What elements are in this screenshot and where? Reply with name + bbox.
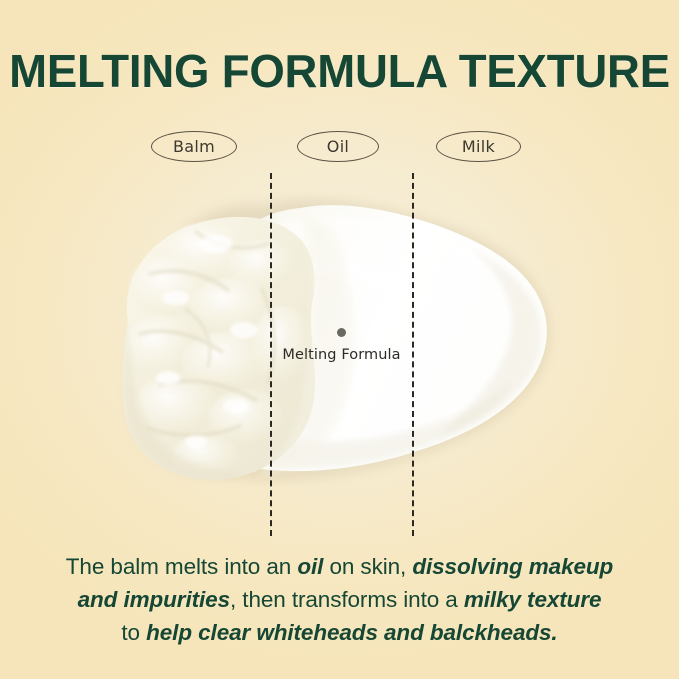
caption-l2-b1: and impurities — [78, 587, 230, 612]
texture-artwork — [0, 170, 679, 520]
caption-l1-b2: dissolving makeup — [412, 554, 613, 579]
stage-label-oil-text: Oil — [327, 137, 349, 156]
divider-oil-milk — [412, 173, 414, 536]
stage-label-milk: Milk — [436, 131, 521, 162]
caption-line-2: and impurities, then transforms into a m… — [40, 583, 639, 616]
caption-line-1: The balm melts into an oil on skin, diss… — [40, 550, 639, 583]
stage-label-milk-text: Milk — [462, 137, 495, 156]
caption-l3-b1: help clear whiteheads and balckheads. — [146, 620, 557, 645]
caption-l1-a: The balm melts into an — [66, 554, 298, 579]
stage-label-balm: Balm — [151, 131, 237, 162]
divider-balm-oil — [270, 173, 272, 536]
caption-line-3: to help clear whiteheads and balckheads. — [40, 616, 639, 649]
caption-text: The balm melts into an oil on skin, diss… — [40, 550, 639, 649]
caption-l2-b2: milky texture — [464, 587, 602, 612]
caption-l3-a: to — [121, 620, 146, 645]
caption-l2-c: , then transforms into a — [230, 587, 464, 612]
balm-texture-shape — [122, 217, 315, 480]
caption-l1-b1: oil — [297, 554, 323, 579]
stage-label-balm-text: Balm — [173, 137, 215, 156]
poster-canvas: MELTING FORMULA TEXTURE Balm Oil Milk — [0, 0, 679, 679]
page-title: MELTING FORMULA TEXTURE — [3, 45, 675, 97]
caption-l1-c: on skin, — [323, 554, 412, 579]
stage-label-oil: Oil — [297, 131, 379, 162]
